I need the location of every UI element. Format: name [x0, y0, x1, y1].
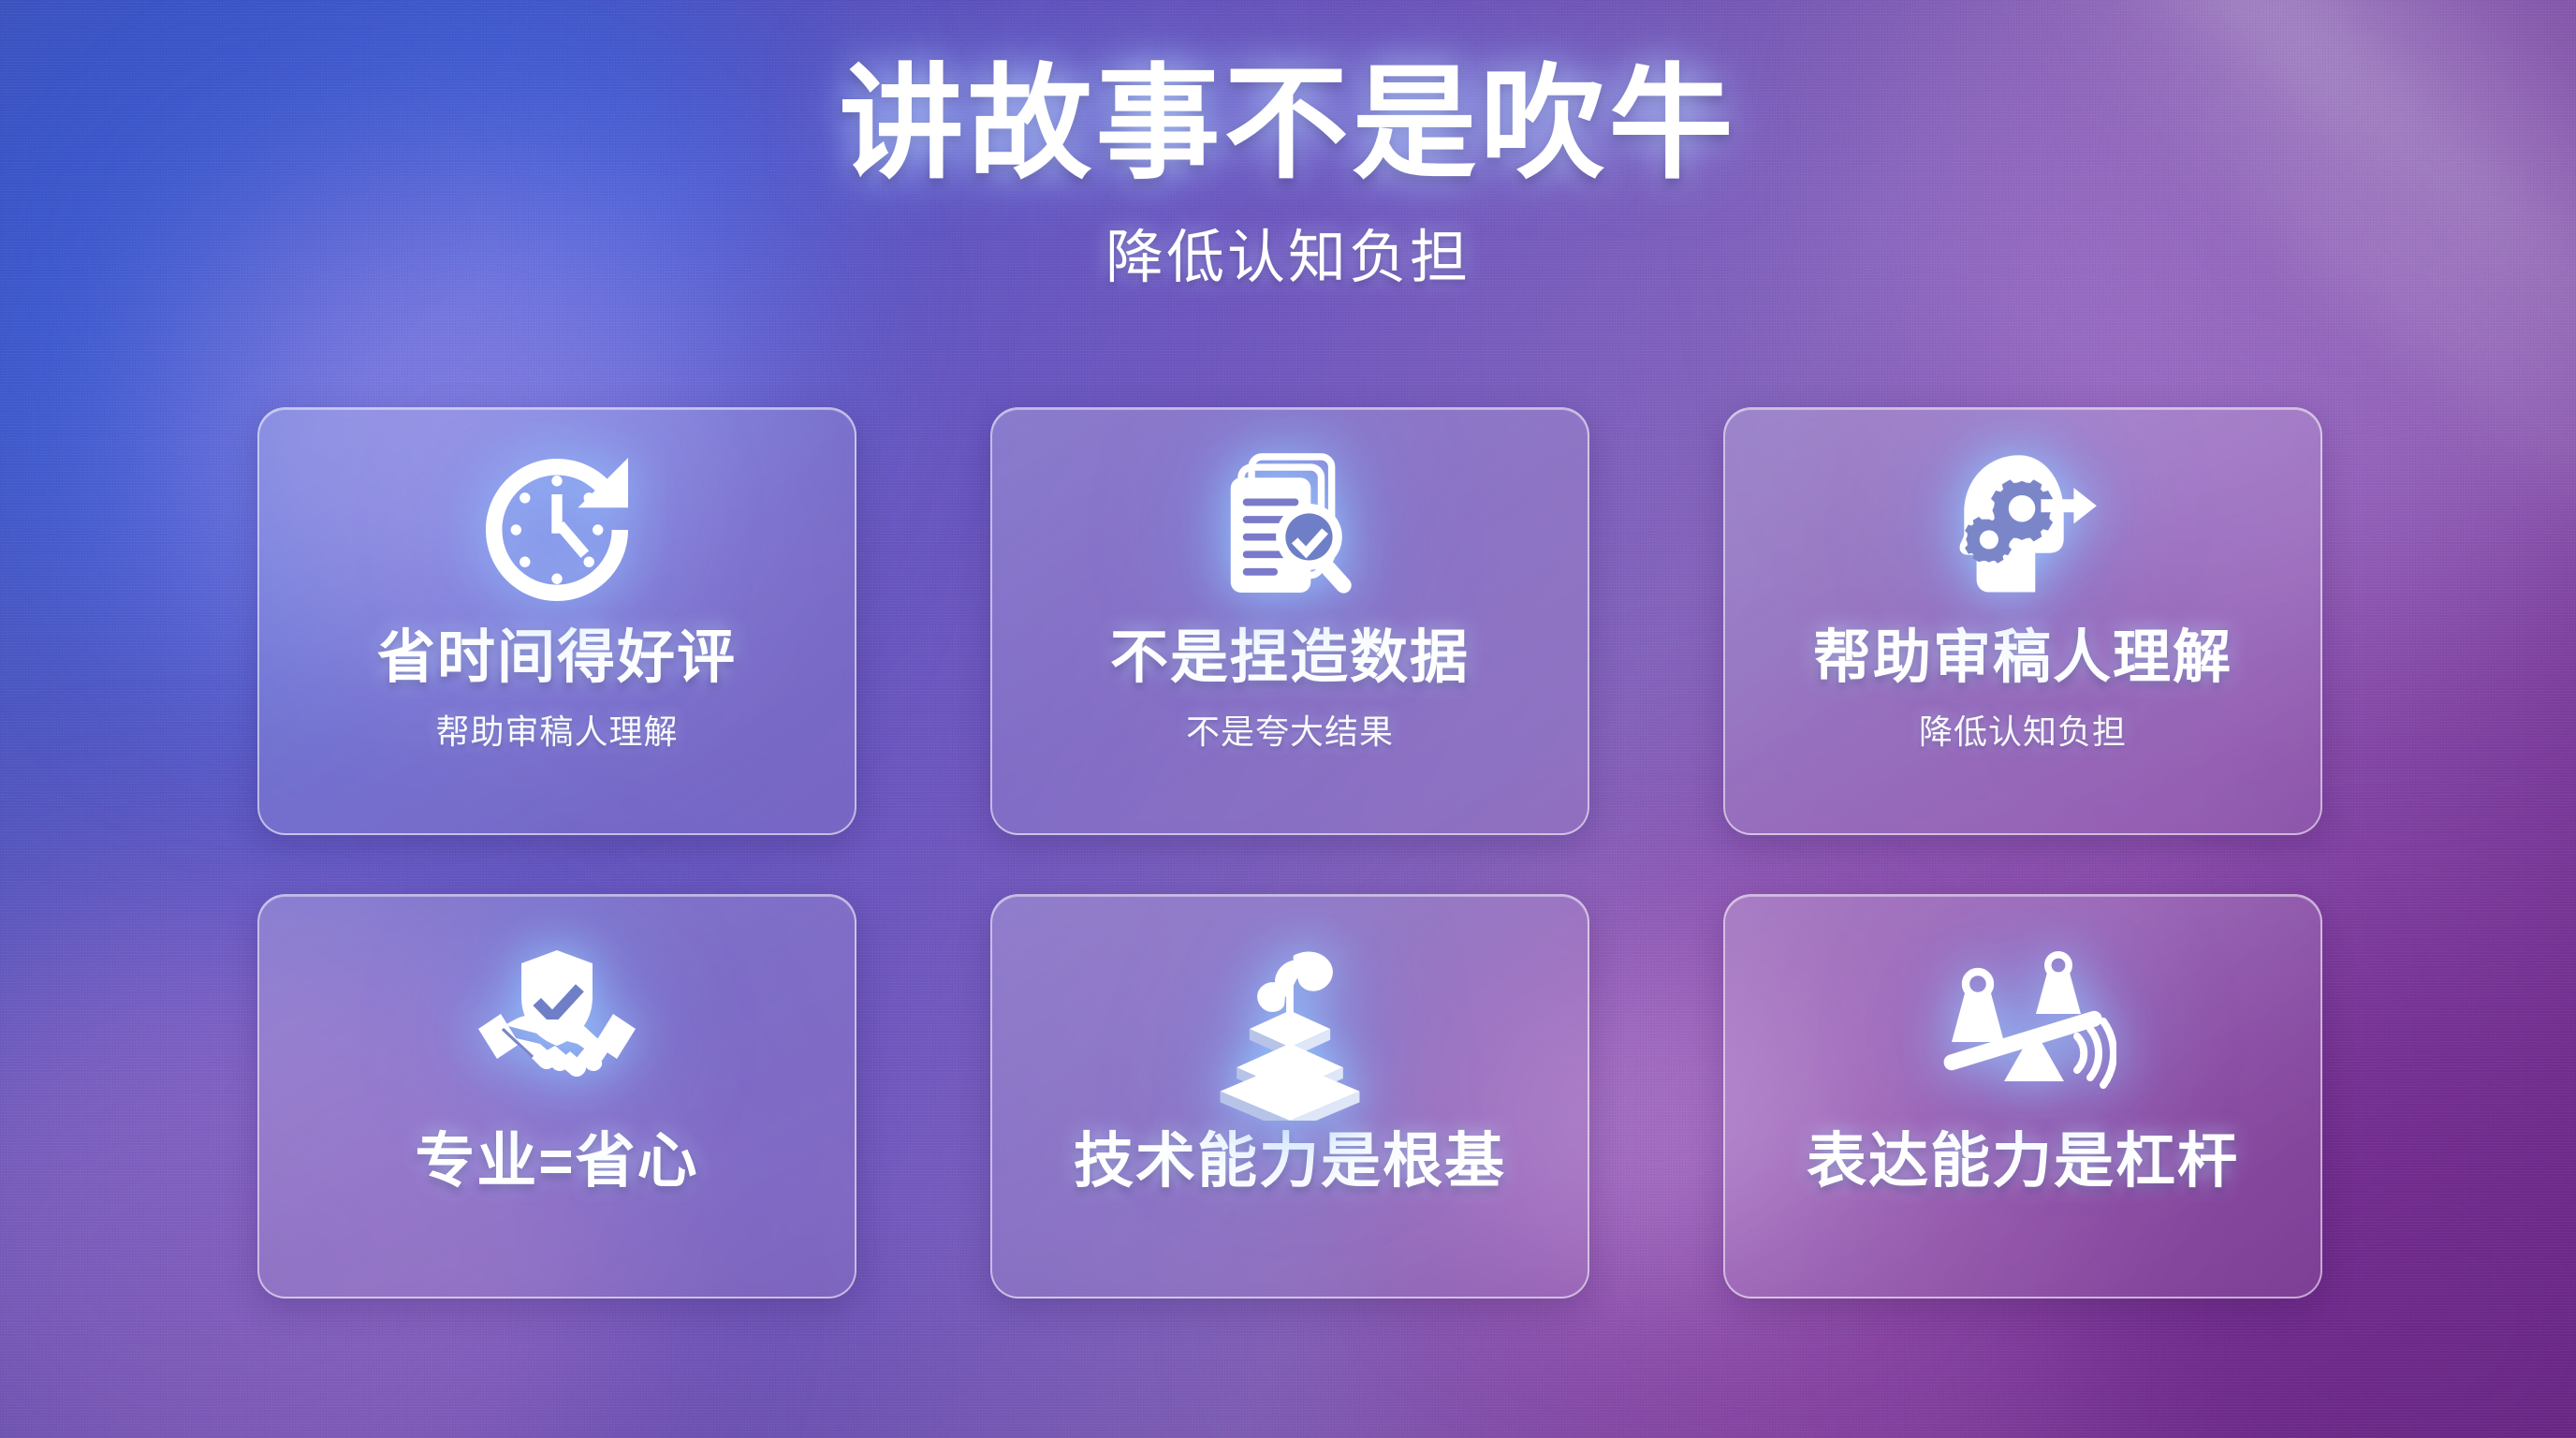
feature-card-subtitle: 不是夸大结果	[1186, 705, 1394, 754]
feature-card-4[interactable]: 专业=省心	[257, 894, 856, 1299]
header: 讲故事不是吹牛 降低认知负担	[0, 58, 2576, 294]
slide-content: 讲故事不是吹牛 降低认知负担	[0, 0, 2576, 1438]
feature-card-3[interactable]: 帮助审稿人理解 降低认知负担	[1723, 407, 2322, 835]
document-search-check-icon	[1203, 441, 1377, 619]
handshake-shield-check-icon	[463, 935, 651, 1123]
head-gears-arrow-icon	[1934, 441, 2112, 619]
feature-card-1[interactable]: 省时间得好评 帮助审稿人理解	[257, 407, 856, 835]
feature-card-title: 表达能力是杠杆	[1807, 1128, 2239, 1194]
pyramid-sprout-icon	[1198, 935, 1382, 1123]
lever-weights-icon	[1929, 935, 2116, 1123]
feature-card-subtitle: 帮助审稿人理解	[435, 705, 678, 754]
page-subtitle: 降低认知负担	[0, 210, 2576, 294]
feature-card-6[interactable]: 表达能力是杠杆	[1723, 894, 2322, 1299]
feature-card-title: 帮助审稿人理解	[1813, 626, 2232, 690]
feature-card-subtitle: 降低认知负担	[1919, 705, 2127, 754]
feature-card-grid: 省时间得好评 帮助审稿人理解	[257, 407, 2322, 1299]
feature-card-title: 专业=省心	[415, 1128, 698, 1194]
page-title: 讲故事不是吹牛	[0, 58, 2576, 193]
feature-card-title: 技术能力是根基	[1074, 1128, 1506, 1194]
feature-card-title: 省时间得好评	[377, 626, 737, 690]
feature-card-5[interactable]: 技术能力是根基	[990, 894, 1589, 1299]
feature-card-2[interactable]: 不是捏造数据 不是夸大结果	[990, 407, 1589, 835]
clock-refresh-icon	[468, 441, 646, 619]
feature-card-title: 不是捏造数据	[1110, 626, 1470, 690]
